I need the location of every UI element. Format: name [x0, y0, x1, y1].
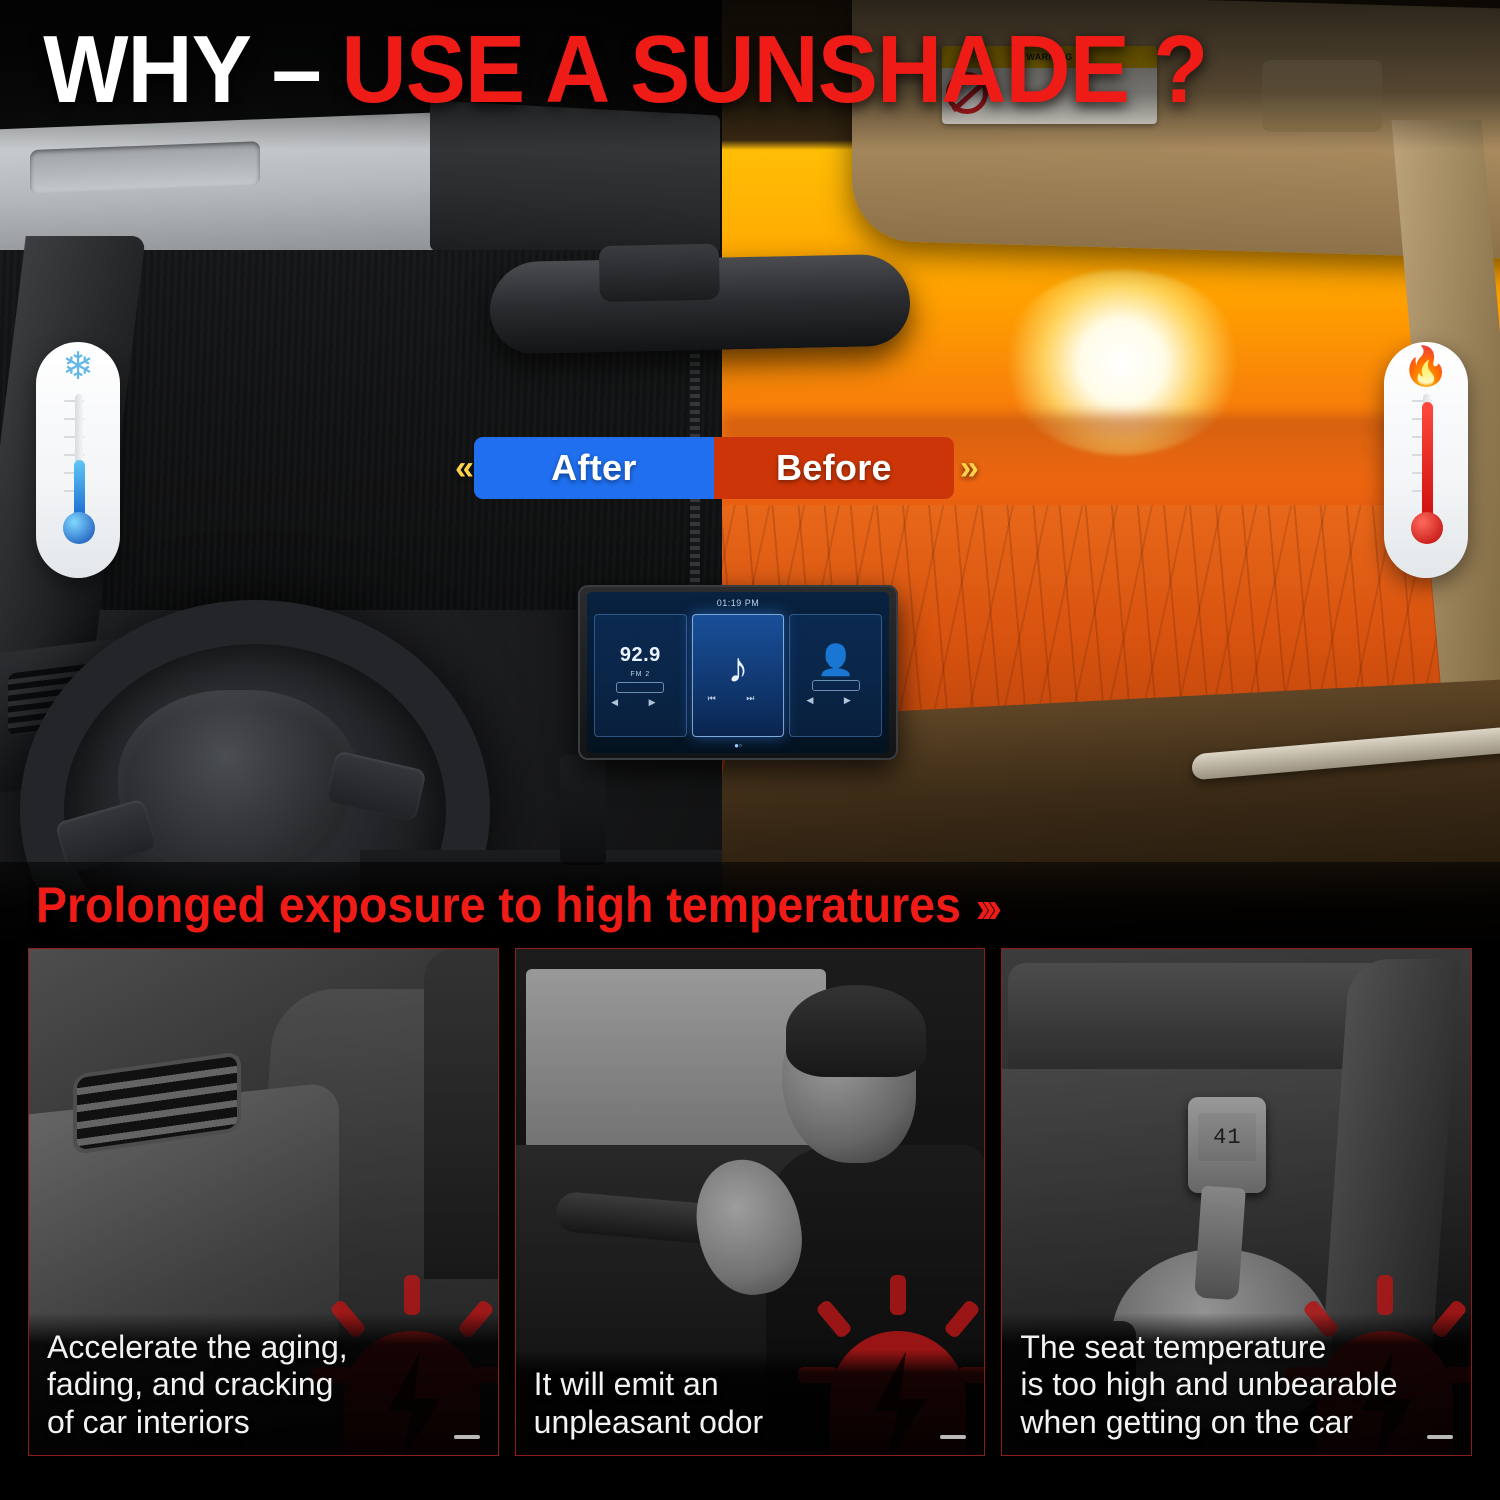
radio-band: FM 2: [630, 671, 650, 678]
benefit-cards: Accelerate the aging, fading, and cracki…: [0, 948, 1500, 1500]
card-caption: It will emit an unpleasant odor: [516, 1350, 985, 1455]
thermometer-fill-hot: [1422, 402, 1433, 524]
before-badge[interactable]: Before: [714, 437, 954, 499]
infotainment-screen[interactable]: 01:19 PM 92.9 FM 2 ◀ ▶ ♪ ⏮ ⏭ 👤: [587, 592, 889, 753]
head-unit-mount: [560, 755, 606, 865]
card-seat-temp: 41 The seat temperature is too high and …: [1001, 948, 1472, 1456]
subhead-text: Prolonged exposure to high temperatures: [36, 877, 961, 933]
card-caption: Accelerate the aging, fading, and cracki…: [29, 1313, 498, 1455]
infotainment-clock: 01:19 PM: [587, 595, 889, 611]
hero-comparison: WARNING 01:19 PM 92.9: [0, 0, 1500, 940]
title-dash: –: [272, 15, 321, 125]
title-highlight: USE A SUNSHADE ?: [342, 15, 1208, 125]
thermometer-bulb-cold: [63, 512, 95, 544]
media-transport-controls[interactable]: ⏮ ⏭: [708, 693, 769, 704]
phone-pill[interactable]: [812, 680, 860, 691]
card-underline: [1427, 1435, 1453, 1439]
flame-icon: 🔥: [1384, 348, 1468, 386]
chevron-right-icon: »: [960, 449, 973, 488]
media-tile[interactable]: ♪ ⏮ ⏭: [692, 614, 785, 737]
after-badge[interactable]: After: [474, 437, 714, 499]
seat-shape-secondary: [424, 949, 499, 1279]
phone-tile[interactable]: 👤 ◀ ▶: [789, 614, 882, 737]
card-odor: It will emit an unpleasant odor: [515, 948, 986, 1456]
card-underline: [454, 1435, 480, 1439]
radio-frequency: 92.9: [620, 644, 661, 667]
ir-thermometer-grip: [1194, 1186, 1246, 1301]
steering-wheel-hub: [118, 690, 358, 880]
card-underline: [940, 1435, 966, 1439]
page-indicator[interactable]: ●▫: [587, 741, 889, 750]
ir-thermometer-reading: 41: [1198, 1113, 1256, 1161]
music-note-icon: ♪: [728, 647, 749, 689]
subhead-bar: Prolonged exposure to high temperatures›…: [0, 862, 1500, 948]
radio-tile[interactable]: 92.9 FM 2 ◀ ▶: [594, 614, 687, 737]
title-word-why: WHY: [43, 15, 251, 125]
rearview-mirror: [489, 254, 911, 355]
thermometer-bulb-hot: [1411, 512, 1443, 544]
card-aging: Accelerate the aging, fading, and cracki…: [28, 948, 499, 1456]
cold-thermometer: ❄: [36, 342, 120, 578]
infotainment-head-unit[interactable]: 01:19 PM 92.9 FM 2 ◀ ▶ ♪ ⏮ ⏭ 👤: [578, 585, 898, 760]
car-window: [526, 969, 826, 1149]
phone-prev-next[interactable]: ◀ ▶: [807, 695, 865, 706]
snowflake-icon: ❄: [36, 348, 120, 386]
card-caption: The seat temperature is too high and unb…: [1002, 1313, 1471, 1455]
subhead-text-wrap: Prolonged exposure to high temperatures›…: [36, 876, 994, 934]
person-icon: 👤: [817, 646, 854, 676]
before-after-badges: « After Before »: [455, 437, 973, 499]
radio-preset-pill[interactable]: [616, 682, 664, 693]
poster-root: WARNING 01:19 PM 92.9: [0, 0, 1500, 1500]
page-title: WHY – USE A SUNSHADE ?: [0, 0, 1410, 140]
person-hair: [786, 985, 926, 1077]
subhead-arrows-icon: ›››: [976, 883, 995, 932]
chevron-left-icon: «: [455, 449, 468, 488]
hot-thermometer: 🔥: [1384, 342, 1468, 578]
radio-prev-next[interactable]: ◀ ▶: [611, 697, 669, 708]
